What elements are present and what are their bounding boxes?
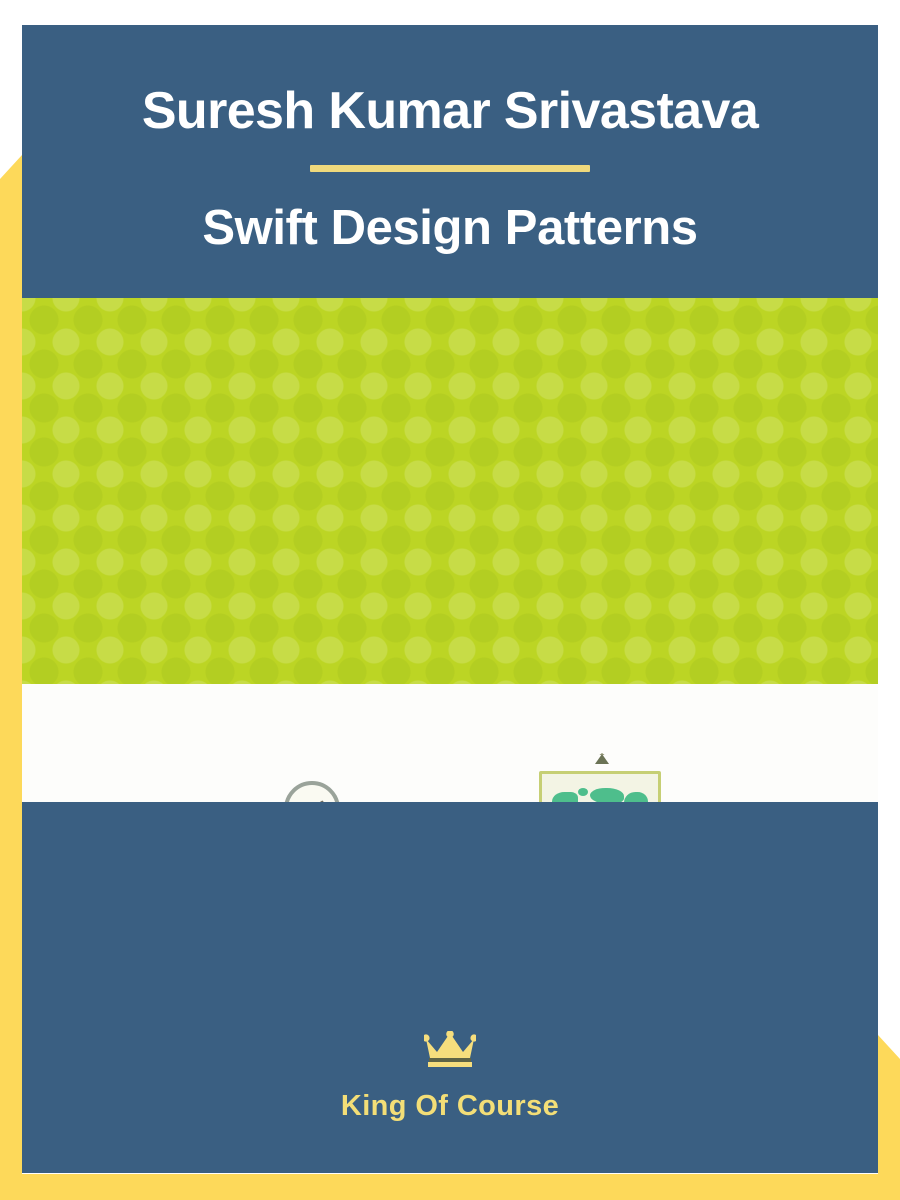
author-name: Suresh Kumar Srivastava [22, 83, 878, 139]
continent-shape [590, 788, 624, 802]
clock-hour-hand [311, 800, 324, 802]
poster-card: Suresh Kumar Srivastava Swift Design Pat… [22, 25, 878, 1173]
wall-background [22, 298, 878, 684]
title-divider [310, 165, 590, 172]
brand-name: King Of Course [341, 1090, 559, 1123]
world-map-icon [539, 771, 661, 802]
continent-shape [624, 792, 648, 802]
poster-header: Suresh Kumar Srivastava Swift Design Pat… [22, 25, 878, 256]
continent-shape [552, 792, 578, 802]
continent-shape [578, 788, 588, 796]
poster-footer: King Of Course [22, 802, 878, 1173]
floor-background [22, 684, 878, 802]
accent-border-left [0, 155, 22, 1200]
course-poster: Suresh Kumar Srivastava Swift Design Pat… [0, 0, 900, 1200]
course-title: Swift Design Patterns [22, 202, 878, 256]
accent-border-bottom [0, 1174, 900, 1200]
video-thumbnail[interactable]: </> [22, 298, 878, 802]
crown-icon [424, 1031, 476, 1074]
